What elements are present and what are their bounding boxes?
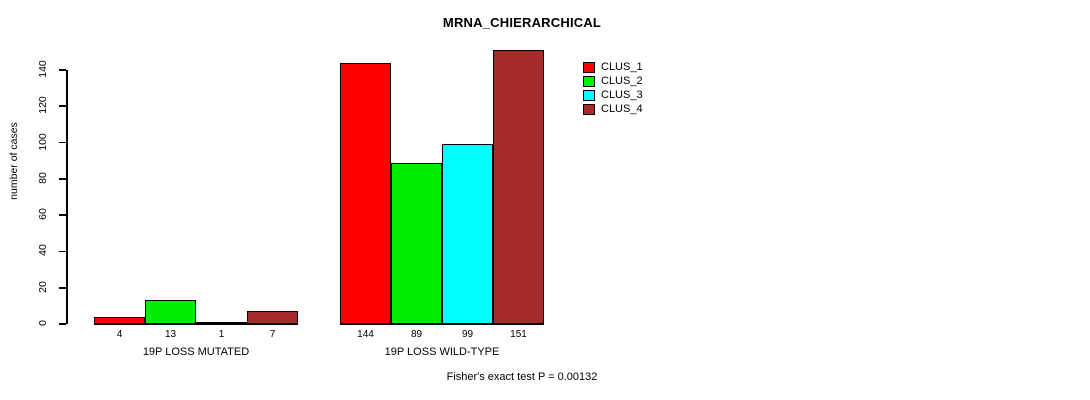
- group-label: 19P LOSS WILD-TYPE: [340, 346, 544, 358]
- y-tick-label: 0: [37, 308, 49, 338]
- y-tick-label: 60: [37, 199, 49, 229]
- legend-swatch-icon: [583, 76, 595, 87]
- y-tick-label: 20: [37, 272, 49, 302]
- y-tick-label: 40: [37, 235, 49, 265]
- bar-clus_3[interactable]: [196, 322, 247, 324]
- group-label: 19P LOSS MUTATED: [94, 346, 298, 358]
- y-tick-label: 140: [37, 54, 49, 84]
- y-tick-label: 80: [37, 163, 49, 193]
- y-tick-mark: [59, 323, 66, 325]
- bar-value-label: 144: [340, 329, 391, 340]
- bar-value-label: 151: [493, 329, 544, 340]
- y-tick-mark: [59, 142, 66, 144]
- y-axis-title: number of cases: [8, 101, 20, 221]
- y-tick-label: 120: [37, 90, 49, 120]
- bar-clus_4[interactable]: [247, 311, 298, 324]
- y-tick-label: 100: [37, 127, 49, 157]
- bar-clus_3[interactable]: [442, 144, 493, 324]
- bar-value-label: 7: [247, 329, 298, 340]
- y-tick-mark: [59, 287, 66, 289]
- legend-label: CLUS_2: [601, 76, 643, 87]
- bar-chart-plot: MRNA_CHIERARCHICAL number of cases 02040…: [0, 0, 1090, 400]
- legend-item[interactable]: CLUS_2: [583, 74, 643, 88]
- y-tick-mark: [59, 69, 66, 71]
- y-tick-mark: [59, 105, 66, 107]
- bar-clus_2[interactable]: [145, 300, 196, 324]
- legend-item[interactable]: CLUS_3: [583, 88, 643, 102]
- y-tick-mark: [59, 214, 66, 216]
- bar-value-label: 89: [391, 329, 442, 340]
- bar-value-label: 4: [94, 329, 145, 340]
- legend: CLUS_1CLUS_2CLUS_3CLUS_4: [583, 60, 643, 116]
- legend-label: CLUS_1: [601, 62, 643, 73]
- bar-clus_1[interactable]: [340, 63, 391, 324]
- y-axis-spine: [66, 70, 68, 324]
- bar-value-label: 13: [145, 329, 196, 340]
- legend-swatch-icon: [583, 104, 595, 115]
- legend-label: CLUS_4: [601, 104, 643, 115]
- bar-clus_4[interactable]: [493, 50, 544, 324]
- page-title: MRNA_CHIERARCHICAL: [0, 15, 1067, 30]
- legend-label: CLUS_3: [601, 90, 643, 101]
- y-tick-mark: [59, 251, 66, 253]
- bar-value-label: 99: [442, 329, 493, 340]
- y-tick-mark: [59, 178, 66, 180]
- legend-swatch-icon: [583, 62, 595, 73]
- legend-item[interactable]: CLUS_1: [583, 60, 643, 74]
- bar-clus_1[interactable]: [94, 317, 145, 324]
- bar-clus_2[interactable]: [391, 163, 442, 324]
- statistical-test-annotation: Fisher's exact test P = 0.00132: [0, 371, 1067, 383]
- legend-swatch-icon: [583, 90, 595, 101]
- legend-item[interactable]: CLUS_4: [583, 102, 643, 116]
- bar-value-label: 1: [196, 329, 247, 340]
